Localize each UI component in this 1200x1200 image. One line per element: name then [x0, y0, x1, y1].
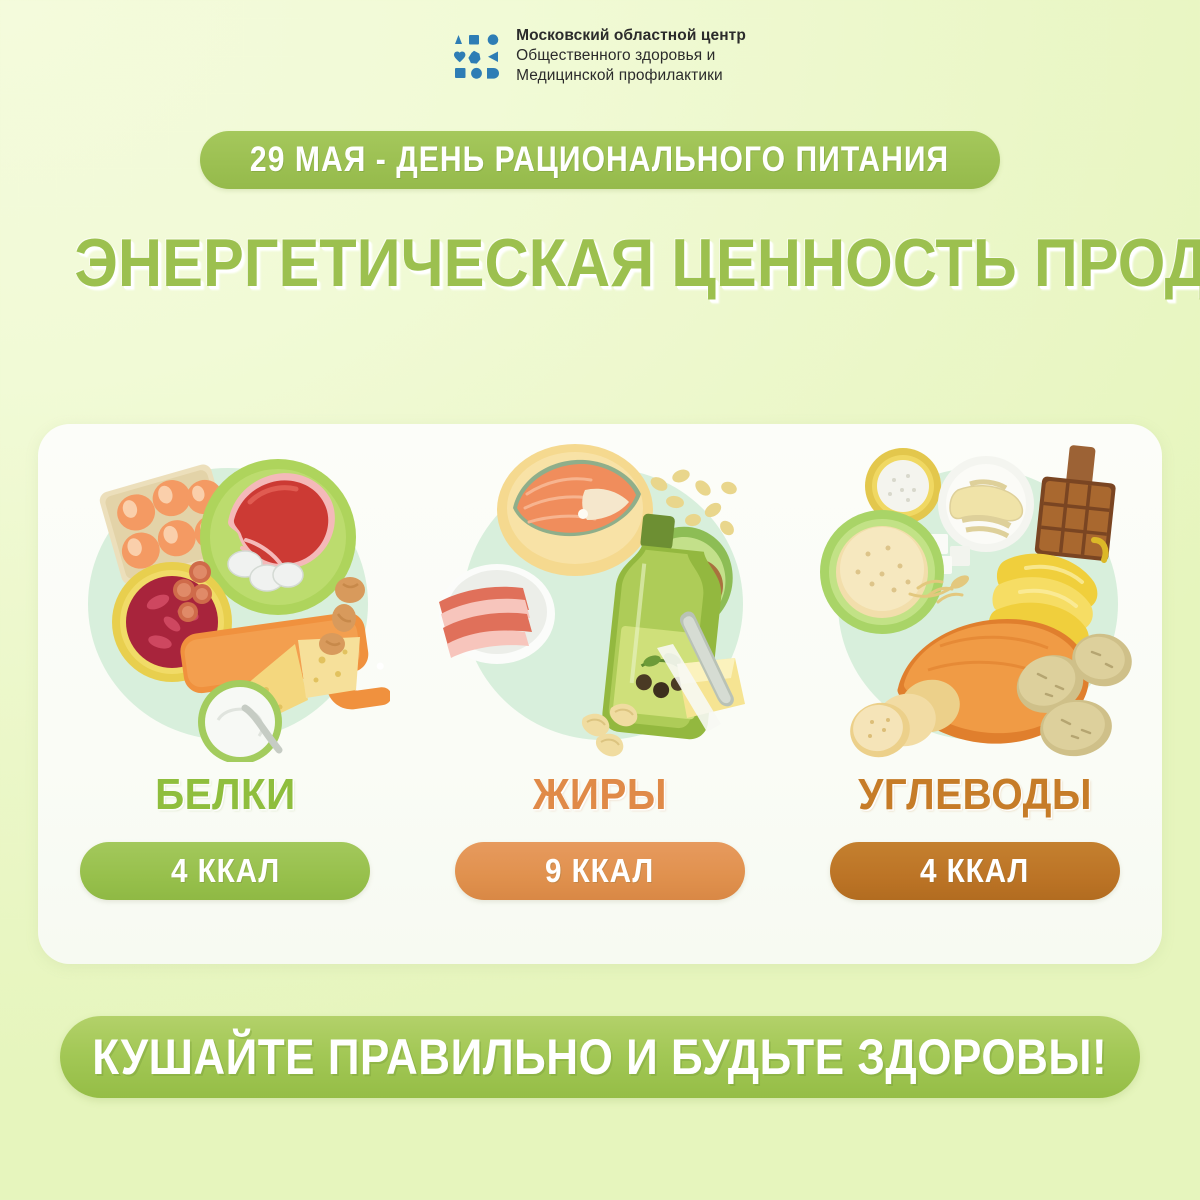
kcal-pill-carbs: 4 ККАЛ: [830, 842, 1120, 900]
kcal-pill-fats: 9 ККАЛ: [455, 842, 745, 900]
org-line-2: Общественного здоровья и: [516, 46, 746, 66]
carbs-illustration-icon: [810, 432, 1140, 762]
date-banner-text: 29 МАЯ - ДЕНЬ РАЦИОНАЛЬНОГО ПИТАНИЯ: [250, 140, 949, 180]
organization-name: Московский областной центр Общественного…: [516, 26, 746, 86]
nutrient-column-carbs: УГЛЕВОДЫ 4 ККАЛ: [787, 424, 1162, 964]
nutrient-column-proteins: БЕЛКИ 4 ККАЛ: [38, 424, 413, 964]
org-line-3: Медицинской профилактики: [516, 66, 746, 86]
kcal-value-fats: 9 ККАЛ: [545, 852, 654, 890]
nutrient-name-fats: ЖИРЫ: [527, 770, 673, 820]
page-title: ЭНЕРГЕТИЧЕСКАЯ ЦЕННОСТЬ ПРОДУКТОВ: [0, 224, 1200, 302]
kcal-value-carbs: 4 ККАЛ: [920, 852, 1029, 890]
nutrient-column-fats: ЖИРЫ 9 ККАЛ: [413, 424, 788, 964]
nutrients-card: БЕЛКИ 4 ККАЛ: [38, 424, 1162, 964]
organization-logo-icon: [454, 28, 502, 84]
kcal-pill-proteins: 4 ККАЛ: [80, 842, 370, 900]
org-line-1: Московский областной центр: [516, 26, 746, 46]
nutrient-name-proteins: БЕЛКИ: [149, 770, 302, 820]
kcal-value-proteins: 4 ККАЛ: [171, 852, 280, 890]
fats-illustration-icon: [435, 432, 765, 762]
page-title-text: ЭНЕРГЕТИЧЕСКАЯ ЦЕННОСТЬ ПРОДУКТОВ: [74, 224, 1200, 302]
footer-banner-text: КУШАЙТЕ ПРАВИЛЬНО И БУДЬТЕ ЗДОРОВЫ!: [93, 1028, 1108, 1086]
footer-banner: КУШАЙТЕ ПРАВИЛЬНО И БУДЬТЕ ЗДОРОВЫ!: [60, 1016, 1140, 1098]
proteins-illustration-icon: [60, 432, 390, 762]
nutrient-name-carbs: УГЛЕВОДЫ: [848, 770, 1102, 820]
date-banner: 29 МАЯ - ДЕНЬ РАЦИОНАЛЬНОГО ПИТАНИЯ: [200, 131, 1000, 189]
header: Московский областной центр Общественного…: [0, 26, 1200, 86]
